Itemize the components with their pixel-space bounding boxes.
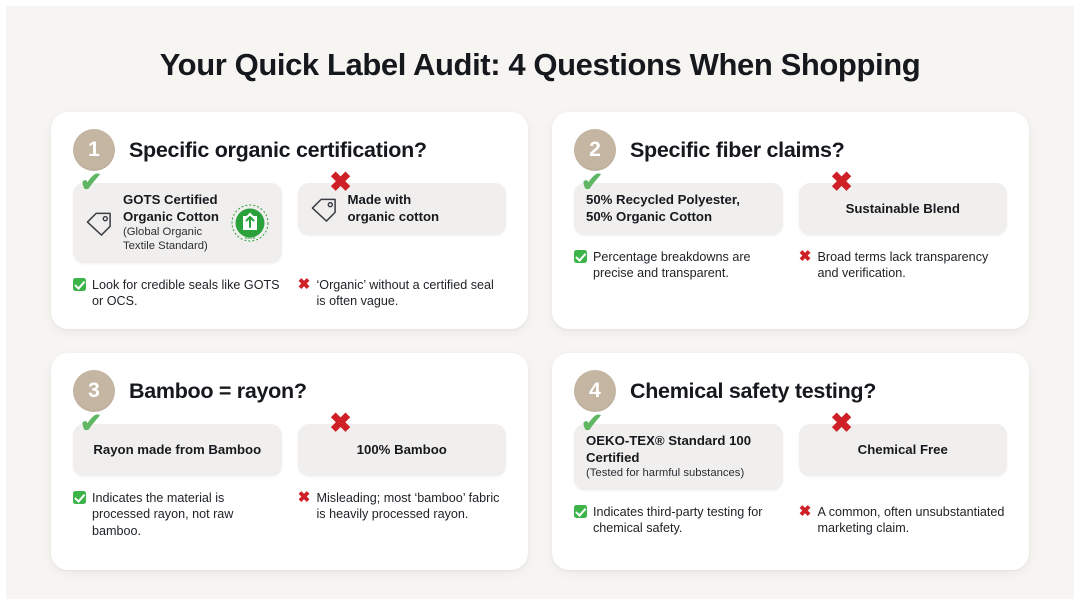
tag-icon	[310, 196, 339, 222]
bad-chip-line1: Sustainable Blend	[846, 201, 960, 218]
bad-example: ✖ Made with organic cotton	[298, 183, 507, 263]
good-chip-texts: OEKO-TEX® Standard 100 Certified (Tested…	[586, 433, 751, 481]
cross-mark-icon: ✖	[298, 491, 311, 504]
card-header: 2 Specific fiber claims?	[574, 129, 1007, 171]
card-number-badge: 4	[574, 370, 616, 412]
note-good-text: Percentage breakdowns are precise and tr…	[593, 249, 783, 282]
card-number-badge: 1	[73, 129, 115, 171]
card-title: Specific fiber claims?	[630, 138, 844, 163]
gots-seal-icon: GOTS	[230, 203, 270, 243]
good-chip-texts: Rayon made from Bamboo	[93, 442, 261, 459]
page-title: Your Quick Label Audit: 4 Questions When…	[30, 0, 1050, 82]
good-chip-sub: (Global Organic Textile Standard)	[123, 226, 221, 254]
good-example: ✔ 50% Recycled Polyester, 50% Organic Co…	[574, 183, 783, 235]
bad-chip-line1: Made with	[348, 192, 440, 209]
bad-label-chip: Chemical Free	[799, 424, 1008, 476]
bad-chip-texts: Chemical Free	[858, 442, 948, 459]
note-good: Look for credible seals like GOTS or OCS…	[73, 277, 282, 310]
note-bad: ✖ ‘Organic’ without a certified seal is …	[298, 277, 507, 310]
note-bad-text: A common, often unsubstantiated marketin…	[818, 504, 1008, 537]
note-bad-text: Broad terms lack transparency and verifi…	[818, 249, 1008, 282]
note-bad-text: Misleading; most ‘bamboo’ fabric is heav…	[317, 490, 507, 523]
svg-text:GOTS: GOTS	[244, 236, 255, 240]
good-chip-texts: GOTS Certified Organic Cotton (Global Or…	[123, 192, 221, 254]
card-title: Specific organic certification?	[129, 138, 427, 163]
chip-row: ✔ Rayon made from Bamboo ✖ 100% Bamboo	[73, 424, 506, 476]
card-title: Chemical safety testing?	[630, 379, 876, 404]
card-header: 4 Chemical safety testing?	[574, 370, 1007, 412]
bad-label-chip: Made with organic cotton	[298, 183, 507, 235]
bad-chip-line2: organic cotton	[348, 209, 440, 226]
note-good: Indicates third-party testing for chemic…	[574, 504, 783, 537]
chip-row: ✔ OEKO-TEX® Standard 100 Certified (Test…	[574, 424, 1007, 490]
bad-chip-texts: Sustainable Blend	[846, 201, 960, 218]
note-good-text: Indicates third-party testing for chemic…	[593, 504, 783, 537]
check-box-icon	[73, 278, 86, 291]
notes-row: Percentage breakdowns are precise and tr…	[574, 249, 1007, 282]
good-label-chip: Rayon made from Bamboo	[73, 424, 282, 476]
bad-example: ✖ 100% Bamboo	[298, 424, 507, 476]
card-question-1: 1 Specific organic certification? ✔ GOTS…	[51, 112, 528, 329]
note-good: Percentage breakdowns are precise and tr…	[574, 249, 783, 282]
bad-example: ✖ Chemical Free	[799, 424, 1008, 490]
note-bad-text: ‘Organic’ without a certified seal is of…	[317, 277, 507, 310]
card-question-2: 2 Specific fiber claims? ✔ 50% Recycled …	[552, 112, 1029, 329]
note-good: Indicates the material is processed rayo…	[73, 490, 282, 539]
good-chip-line1: 50% Recycled Polyester,	[586, 192, 740, 209]
bad-chip-texts: Made with organic cotton	[348, 192, 440, 225]
bad-chip-line1: 100% Bamboo	[357, 442, 447, 459]
bad-label-chip: Sustainable Blend	[799, 183, 1008, 235]
cross-mark-icon: ✖	[799, 250, 812, 263]
bad-chip-texts: 100% Bamboo	[357, 442, 447, 459]
card-number-badge: 3	[73, 370, 115, 412]
note-good-text: Look for credible seals like GOTS or OCS…	[92, 277, 282, 310]
bad-chip-line1: Chemical Free	[858, 442, 948, 459]
note-bad: ✖ Misleading; most ‘bamboo’ fabric is he…	[298, 490, 507, 539]
chip-row: ✔ 50% Recycled Polyester, 50% Organic Co…	[574, 183, 1007, 235]
note-bad: ✖ Broad terms lack transparency and veri…	[799, 249, 1008, 282]
good-example: ✔ Rayon made from Bamboo	[73, 424, 282, 476]
note-good-text: Indicates the material is processed rayo…	[92, 490, 282, 539]
notes-row: Indicates third-party testing for chemic…	[574, 504, 1007, 537]
card-number-badge: 2	[574, 129, 616, 171]
good-chip-line2: Organic Cotton	[123, 209, 221, 226]
good-chip-texts: 50% Recycled Polyester, 50% Organic Cott…	[586, 192, 740, 225]
cards-grid: 1 Specific organic certification? ✔ GOTS…	[30, 112, 1050, 570]
check-box-icon	[574, 505, 587, 518]
check-box-icon	[574, 250, 587, 263]
notes-row: Look for credible seals like GOTS or OCS…	[73, 277, 506, 310]
good-chip-line1: Rayon made from Bamboo	[93, 442, 261, 459]
good-chip-line2: 50% Organic Cotton	[586, 209, 740, 226]
cross-mark-icon: ✖	[298, 278, 311, 291]
bad-example: ✖ Sustainable Blend	[799, 183, 1008, 235]
tag-icon	[85, 210, 114, 236]
notes-row: Indicates the material is processed rayo…	[73, 490, 506, 539]
card-header: 3 Bamboo = rayon?	[73, 370, 506, 412]
good-label-chip: 50% Recycled Polyester, 50% Organic Cott…	[574, 183, 783, 235]
good-chip-sub: (Tested for harmful substances)	[586, 467, 751, 481]
good-chip-line2: Certified	[586, 450, 751, 467]
good-label-chip: GOTS Certified Organic Cotton (Global Or…	[73, 183, 282, 263]
good-chip-line1: GOTS Certified	[123, 192, 221, 209]
card-question-4: 4 Chemical safety testing? ✔ OEKO-TEX® S…	[552, 353, 1029, 570]
good-label-chip: OEKO-TEX® Standard 100 Certified (Tested…	[574, 424, 783, 490]
card-title: Bamboo = rayon?	[129, 379, 307, 404]
infographic-canvas: Your Quick Label Audit: 4 Questions When…	[0, 0, 1080, 605]
note-bad: ✖ A common, often unsubstantiated market…	[799, 504, 1008, 537]
good-chip-line1: OEKO-TEX® Standard 100	[586, 433, 751, 450]
card-question-3: 3 Bamboo = rayon? ✔ Rayon made from Bamb…	[51, 353, 528, 570]
good-example: ✔ GOTS Certified Organic Cotton (Global …	[73, 183, 282, 263]
good-example: ✔ OEKO-TEX® Standard 100 Certified (Test…	[574, 424, 783, 490]
check-box-icon	[73, 491, 86, 504]
card-header: 1 Specific organic certification?	[73, 129, 506, 171]
chip-row: ✔ GOTS Certified Organic Cotton (Global …	[73, 183, 506, 263]
bad-label-chip: 100% Bamboo	[298, 424, 507, 476]
cross-mark-icon: ✖	[799, 505, 812, 518]
